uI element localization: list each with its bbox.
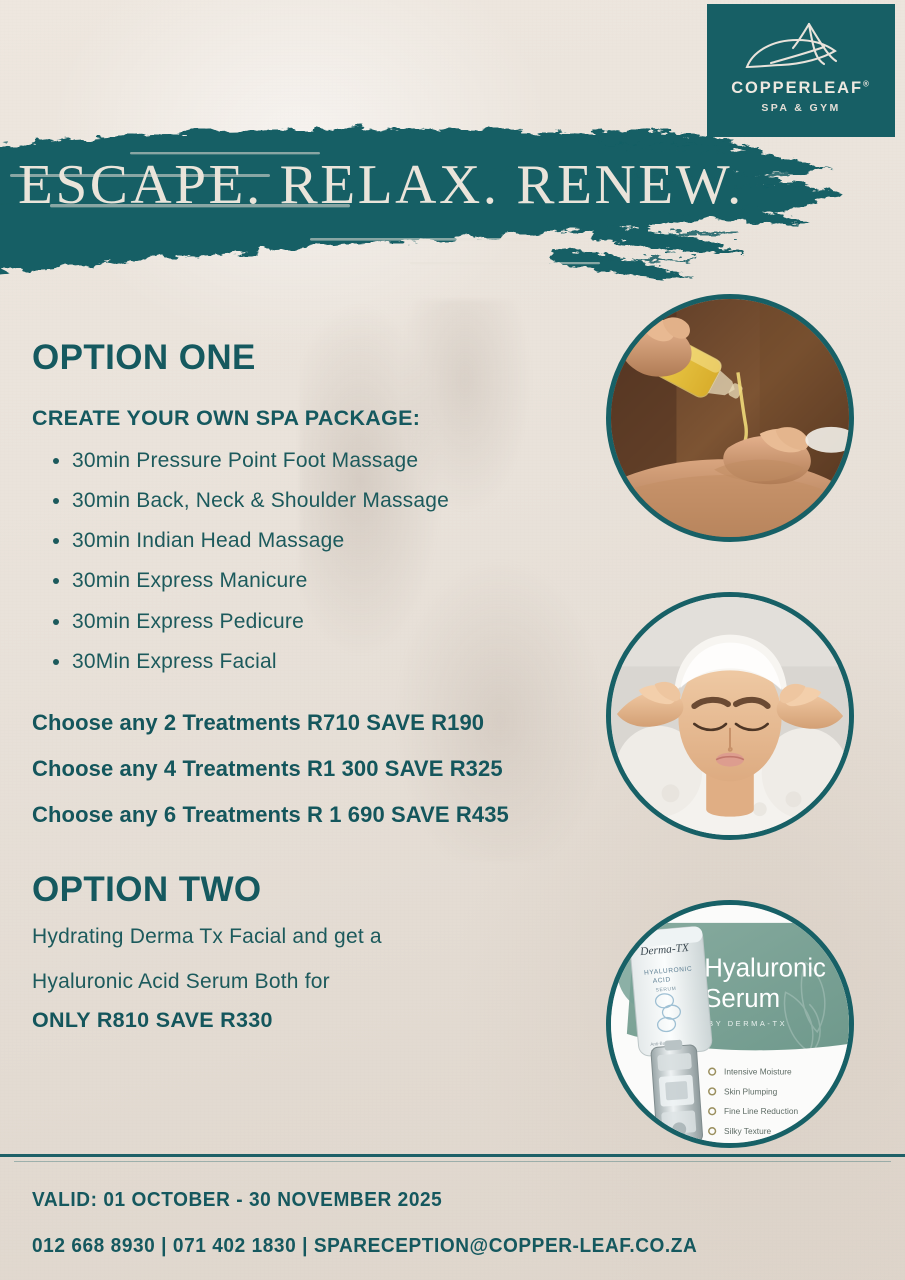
option-two-description-line-2: Hyaluronic Acid Serum Both for	[32, 966, 627, 998]
serum-byline: BY DERMA-TX	[708, 1019, 787, 1028]
option-two-section: OPTION TWO Hydrating Derma Tx Facial and…	[32, 872, 627, 1033]
option-one-subheading: CREATE YOUR OWN SPA PACKAGE:	[32, 406, 627, 431]
benefit-3: Fine Line Reduction	[724, 1106, 798, 1116]
facial-massage-photo	[606, 592, 854, 840]
serum-product-card: Hyaluronic Serum BY DERMA-TX Intensive M…	[611, 905, 849, 1143]
massage-oil-illustration	[611, 299, 849, 537]
option-one-heading: OPTION ONE	[32, 340, 627, 375]
option-two-heading: OPTION TWO	[32, 872, 627, 907]
list-item: 30Min Express Facial	[32, 650, 627, 674]
offer-content: OPTION ONE CREATE YOUR OWN SPA PACKAGE: …	[32, 340, 627, 1033]
list-item: 30min Back, Neck & Shoulder Massage	[32, 489, 627, 513]
benefit-1: Intensive Moisture	[724, 1067, 792, 1077]
option-two-description-line-1: Hydrating Derma Tx Facial and get a	[32, 921, 627, 953]
validity-text: VALID: 01 OCTOBER - 30 NOVEMBER 2025	[32, 1188, 823, 1212]
price-line: Choose any 4 Treatments R1 300 SAVE R325	[32, 756, 627, 782]
option-two-price: ONLY R810 SAVE R330	[32, 1008, 627, 1033]
treatment-list: 30min Pressure Point Foot Massage 30min …	[32, 449, 627, 674]
hyaluronic-serum-photo: Hyaluronic Serum BY DERMA-TX Intensive M…	[606, 900, 854, 1148]
list-item: 30min Express Pedicure	[32, 610, 627, 634]
logo-brand-name: COPPERLEAF®	[731, 80, 871, 97]
footer: VALID: 01 OCTOBER - 30 NOVEMBER 2025 012…	[32, 1188, 882, 1258]
serum-title-line-2: Serum	[704, 985, 780, 1013]
hero-banner: ESCAPE. RELAX. RENEW.	[0, 112, 905, 297]
spa-promotion-flyer: COPPERLEAF® SPA & GYM	[0, 0, 905, 1280]
footer-divider	[0, 1154, 905, 1157]
list-item: 30min Express Manicure	[32, 569, 627, 593]
massage-oil-photo	[606, 294, 854, 542]
serum-title-line-1: Hyaluronic	[704, 954, 826, 982]
leaf-swoosh-icon	[741, 20, 861, 78]
benefit-2: Skin Plumping	[724, 1086, 778, 1096]
page-title: ESCAPE. RELAX. RENEW.	[18, 157, 744, 213]
price-line: Choose any 6 Treatments R 1 690 SAVE R43…	[32, 802, 627, 828]
contact-text: 012 668 8930 | 071 402 1830 | SPARECEPTI…	[32, 1234, 823, 1258]
benefit-4: Silky Texture	[724, 1126, 771, 1136]
price-line: Choose any 2 Treatments R710 SAVE R190	[32, 710, 627, 736]
list-item: 30min Indian Head Massage	[32, 529, 627, 553]
package-price-list: Choose any 2 Treatments R710 SAVE R190 C…	[32, 710, 627, 828]
logo-brand-text: COPPERLEAF	[731, 79, 863, 97]
facial-massage-illustration	[611, 597, 849, 835]
registered-mark: ®	[863, 80, 871, 89]
list-item: 30min Pressure Point Foot Massage	[32, 449, 627, 473]
